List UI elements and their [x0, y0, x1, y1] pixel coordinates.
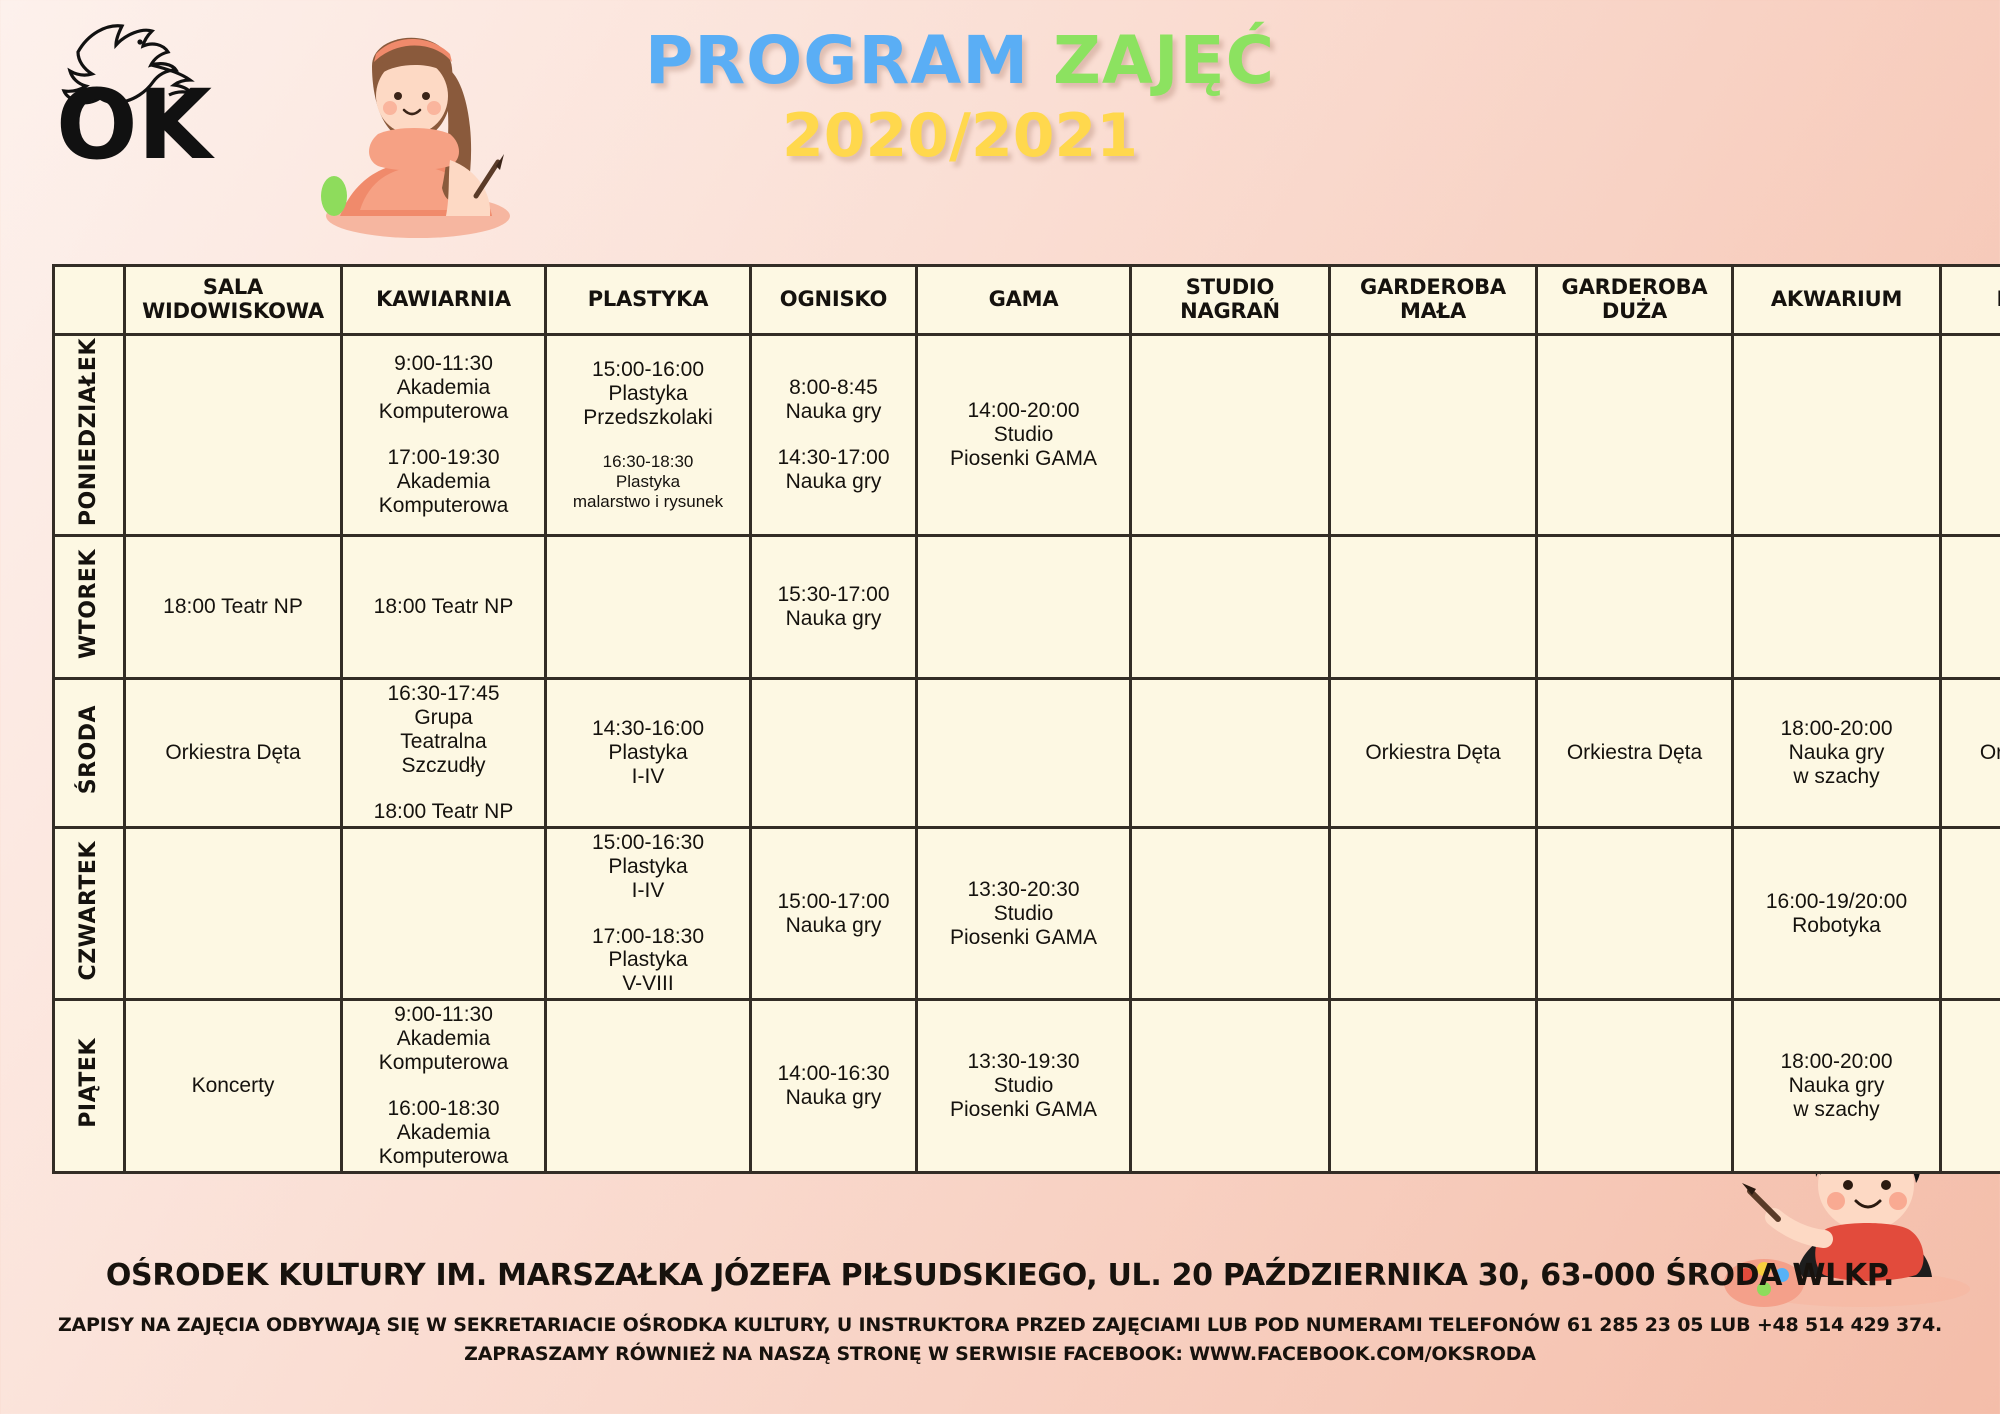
schedule-table-container: SALA WIDOWISKOWAKAWIARNIAPLASTYKAOGNISKO… — [52, 264, 1952, 1174]
activity-entry: 18:00-20:00Nauka gryw szachy — [1737, 717, 1936, 789]
schedule-cell[interactable] — [1131, 827, 1330, 1000]
activity-entry: Koncerty — [129, 1074, 337, 1098]
activity-entry: 14:00-16:30Nauka gry — [755, 1062, 912, 1110]
column-header-ognisko: OGNISKO — [751, 266, 917, 335]
activity-entry: 14:00-20:00StudioPiosenki GAMA — [921, 399, 1126, 471]
schedule-cell[interactable]: 18:00-20:00Nauka gryw szachy — [1733, 1000, 1941, 1173]
svg-text:OK: OK — [56, 69, 216, 162]
schedule-cell[interactable] — [1131, 536, 1330, 679]
day-label-czwartek: CZWARTEK — [54, 827, 125, 1000]
schedule-cell[interactable]: 18:00-20:00Nauka gryw szachy — [1733, 679, 1941, 828]
day-label-wtorek: WTOREK — [54, 536, 125, 679]
day-label-text: PIĄTEK — [76, 1038, 101, 1128]
schedule-cell[interactable] — [1330, 1000, 1537, 1173]
schedule-cell[interactable] — [917, 679, 1131, 828]
activity-entry: 15:00-16:30PlastykaI-IV — [550, 831, 746, 903]
schedule-cell[interactable] — [1733, 536, 1941, 679]
column-header-gama: GAMA — [917, 266, 1131, 335]
schedule-cell[interactable] — [917, 536, 1131, 679]
activity-entry: Orkiestra Dęta — [129, 741, 337, 765]
column-header-garderoba-mała: GARDEROBA MAŁA — [1330, 266, 1537, 335]
activity-entry: 8:00-8:45Nauka gry — [755, 376, 912, 424]
activity-entry: 18:00 Teatr NP — [346, 800, 541, 824]
activity-entry: 13:30-20:30StudioPiosenki GAMA — [921, 878, 1126, 950]
schedule-cell[interactable] — [1941, 536, 2000, 679]
activity-entry: 14:30-16:00PlastykaI-IV — [550, 717, 746, 789]
activity-entry: 17:00-18:30PlastykaV-VIII — [550, 925, 746, 997]
table-row: WTOREK18:00 Teatr NP18:00 Teatr NP15:30-… — [54, 536, 2000, 679]
table-corner-cell — [54, 266, 125, 335]
footer-info-line-2: ZAPRASZAMY RÓWNIEŻ NA NASZĄ STRONĘ W SER… — [0, 1340, 2000, 1369]
schedule-cell[interactable] — [751, 679, 917, 828]
poster-footer: OŚRODEK KULTURY IM. MARSZAŁKA JÓZEFA PIŁ… — [0, 1258, 2000, 1370]
schedule-cell[interactable]: Orkiestra Dęta — [125, 679, 342, 828]
column-header-garderoba-duża: GARDEROBA DUŻA — [1537, 266, 1733, 335]
page-title: PROGRAM ZAJĘĆ 2020/2021 — [600, 28, 1320, 166]
schedule-cell[interactable] — [125, 827, 342, 1000]
girl-illustration — [300, 10, 530, 260]
table-header-row: SALA WIDOWISKOWAKAWIARNIAPLASTYKAOGNISKO… — [54, 266, 2000, 335]
schedule-cell[interactable]: 9:00-11:30AkademiaKomputerowa16:00-18:30… — [342, 1000, 546, 1173]
schedule-cell[interactable] — [1941, 827, 2000, 1000]
activity-entry: Orkiestra Dęta — [1334, 741, 1532, 765]
activity-entry: 14:30-17:00Nauka gry — [755, 446, 912, 494]
schedule-cell[interactable]: 14:30-16:00PlastykaI-IV — [546, 679, 751, 828]
activity-entry: 16:00-19/20:00Robotyka — [1737, 890, 1936, 938]
schedule-cell[interactable]: 14:00-16:30Nauka gry — [751, 1000, 917, 1173]
schedule-cell[interactable]: 13:30-19:30StudioPiosenki GAMA — [917, 1000, 1131, 1173]
schedule-cell[interactable] — [1131, 679, 1330, 828]
activity-entry: 15:30-17:00Nauka gry — [755, 583, 912, 631]
column-header-piwnica: PIWNICA — [1941, 266, 2000, 335]
schedule-cell[interactable] — [1941, 335, 2000, 536]
schedule-cell[interactable]: 14:00-20:00StudioPiosenki GAMA — [917, 335, 1131, 536]
schedule-cell[interactable]: 9:00-11:30AkademiaKomputerowa17:00-19:30… — [342, 335, 546, 536]
day-label-środa: ŚRODA — [54, 679, 125, 828]
table-body: PONIEDZIAŁEK9:00-11:30AkademiaKomputerow… — [54, 335, 2000, 1173]
schedule-cell[interactable]: 8:00-8:45Nauka gry14:30-17:00Nauka gry — [751, 335, 917, 536]
schedule-cell[interactable]: Orkiestra Dęta — [1537, 679, 1733, 828]
schedule-cell[interactable] — [1733, 335, 1941, 536]
schedule-cell[interactable] — [1330, 536, 1537, 679]
day-label-poniedziałek: PONIEDZIAŁEK — [54, 335, 125, 536]
table-row: PONIEDZIAŁEK9:00-11:30AkademiaKomputerow… — [54, 335, 2000, 536]
title-year: 2020/2021 — [600, 106, 1320, 166]
table-row: ŚRODAOrkiestra Dęta16:30-17:45GrupaTeatr… — [54, 679, 2000, 828]
activity-entry: 18:00-20:00Nauka gryw szachy — [1737, 1050, 1936, 1122]
activity-entry: Orkiestra Dęta — [1945, 741, 2000, 765]
activity-entry: 9:00-11:30AkademiaKomputerowa — [346, 1003, 541, 1075]
schedule-cell[interactable]: 15:00-16:00PlastykaPrzedszkolaki16:30-18… — [546, 335, 751, 536]
table-row: CZWARTEK15:00-16:30PlastykaI-IV17:00-18:… — [54, 827, 2000, 1000]
schedule-cell[interactable]: 13:30-20:30StudioPiosenki GAMA — [917, 827, 1131, 1000]
schedule-cell[interactable] — [1330, 335, 1537, 536]
column-header-plastyka: PLASTYKA — [546, 266, 751, 335]
schedule-cell[interactable]: Orkiestra Dęta — [1330, 679, 1537, 828]
day-label-text: ŚRODA — [76, 705, 101, 794]
day-label-text: WTOREK — [76, 549, 101, 659]
schedule-cell[interactable]: 15:30-17:00Nauka gry — [751, 536, 917, 679]
schedule-cell[interactable] — [1131, 335, 1330, 536]
day-label-text: CZWARTEK — [76, 841, 101, 980]
schedule-cell[interactable]: 15:00-17:00Nauka gry — [751, 827, 917, 1000]
schedule-cell[interactable] — [1941, 1000, 2000, 1173]
activity-entry: 18:00 Teatr NP — [346, 595, 541, 619]
activity-entry: 13:30-19:30StudioPiosenki GAMA — [921, 1050, 1126, 1122]
title-zajec: ZAJĘĆ — [1053, 22, 1275, 99]
activity-entry: Orkiestra Dęta — [1541, 741, 1728, 765]
schedule-cell[interactable]: 18:00 Teatr NP — [342, 536, 546, 679]
activity-entry: 16:30-18:30Plastykamalarstwo i rysunek — [550, 452, 746, 512]
activity-entry: 15:00-16:00PlastykaPrzedszkolaki — [550, 358, 746, 430]
column-header-sala-widowiskowa: SALA WIDOWISKOWA — [125, 266, 342, 335]
activity-entry: 16:30-17:45GrupaTeatralnaSzczudły — [346, 682, 541, 778]
column-header-akwarium: AKWARIUM — [1733, 266, 1941, 335]
column-header-kawiarnia: KAWIARNIA — [342, 266, 546, 335]
schedule-cell[interactable]: 16:00-19/20:00Robotyka — [1733, 827, 1941, 1000]
ok-bird-logo: OK — [48, 12, 228, 162]
activity-entry: 15:00-17:00Nauka gry — [755, 890, 912, 938]
schedule-cell[interactable] — [1537, 335, 1733, 536]
schedule-cell[interactable] — [1537, 827, 1733, 1000]
schedule-cell[interactable] — [1537, 536, 1733, 679]
schedule-cell[interactable]: 18:00 Teatr NP — [125, 536, 342, 679]
day-label-text: PONIEDZIAŁEK — [76, 338, 101, 526]
activity-entry: 9:00-11:30AkademiaKomputerowa — [346, 352, 541, 424]
column-header-studio-nagrań: STUDIO NAGRAŃ — [1131, 266, 1330, 335]
schedule-cell[interactable]: Orkiestra Dęta — [1941, 679, 2000, 828]
schedule-table: SALA WIDOWISKOWAKAWIARNIAPLASTYKAOGNISKO… — [52, 264, 2000, 1174]
schedule-cell[interactable]: 15:00-16:30PlastykaI-IV17:00-18:30Plasty… — [546, 827, 751, 1000]
schedule-cell[interactable] — [546, 536, 751, 679]
schedule-cell[interactable] — [125, 335, 342, 536]
activity-entry: 16:00-18:30AkademiaKomputerowa — [346, 1097, 541, 1169]
day-label-piątek: PIĄTEK — [54, 1000, 125, 1173]
schedule-cell[interactable] — [546, 1000, 751, 1173]
footer-address: OŚRODEK KULTURY IM. MARSZAŁKA JÓZEFA PIŁ… — [0, 1258, 2000, 1293]
table-row: PIĄTEKKoncerty9:00-11:30AkademiaKomputer… — [54, 1000, 2000, 1173]
footer-info-line-1: ZAPISY NA ZAJĘCIA ODBYWAJĄ SIĘ W SEKRETA… — [0, 1311, 2000, 1340]
schedule-cell[interactable] — [342, 827, 546, 1000]
title-program: PROGRAM — [645, 22, 1029, 99]
schedule-cell[interactable] — [1131, 1000, 1330, 1173]
schedule-cell[interactable]: Koncerty — [125, 1000, 342, 1173]
schedule-cell[interactable]: 16:30-17:45GrupaTeatralnaSzczudły18:00 T… — [342, 679, 546, 828]
schedule-cell[interactable] — [1330, 827, 1537, 1000]
activity-entry: 18:00 Teatr NP — [129, 595, 337, 619]
activity-entry: 17:00-19:30AkademiaKomputerowa — [346, 446, 541, 518]
schedule-cell[interactable] — [1537, 1000, 1733, 1173]
